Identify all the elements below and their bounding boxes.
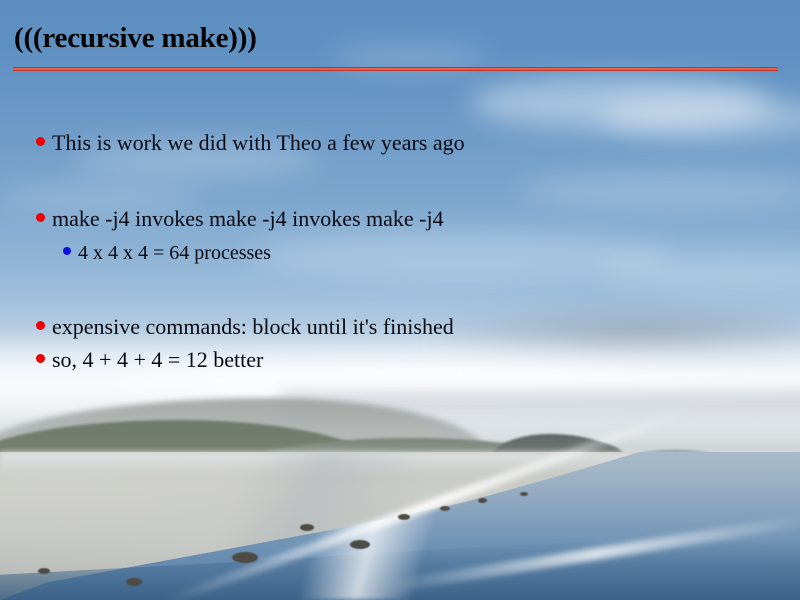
- bullet-text: 4 x 4 x 4 = 64 processes: [78, 243, 271, 263]
- presentation-slide: (((recursive make))) This is work we did…: [0, 0, 800, 600]
- bullet-text: make -j4 invokes make -j4 invokes make -…: [52, 208, 444, 230]
- bullet-item: make -j4 invokes make -j4 invokes make -…: [36, 208, 444, 230]
- bullet-item: This is work we did with Theo a few year…: [36, 132, 465, 154]
- sub-bullet-item: 4 x 4 x 4 = 64 processes: [63, 243, 271, 263]
- bullet-text: This is work we did with Theo a few year…: [52, 132, 465, 154]
- red-dot-bullet-icon: [36, 354, 45, 363]
- bullet-item: so, 4 + 4 + 4 = 12 better: [36, 349, 263, 371]
- red-dot-bullet-icon: [36, 213, 45, 222]
- bullet-item: expensive commands: block until it's fin…: [36, 316, 454, 338]
- red-dot-bullet-icon: [36, 137, 45, 146]
- bullet-text: expensive commands: block until it's fin…: [52, 316, 454, 338]
- bullet-text: so, 4 + 4 + 4 = 12 better: [52, 349, 263, 371]
- blue-dot-bullet-icon: [63, 247, 71, 255]
- slide-body: This is work we did with Theo a few year…: [0, 0, 800, 600]
- red-dot-bullet-icon: [36, 321, 45, 330]
